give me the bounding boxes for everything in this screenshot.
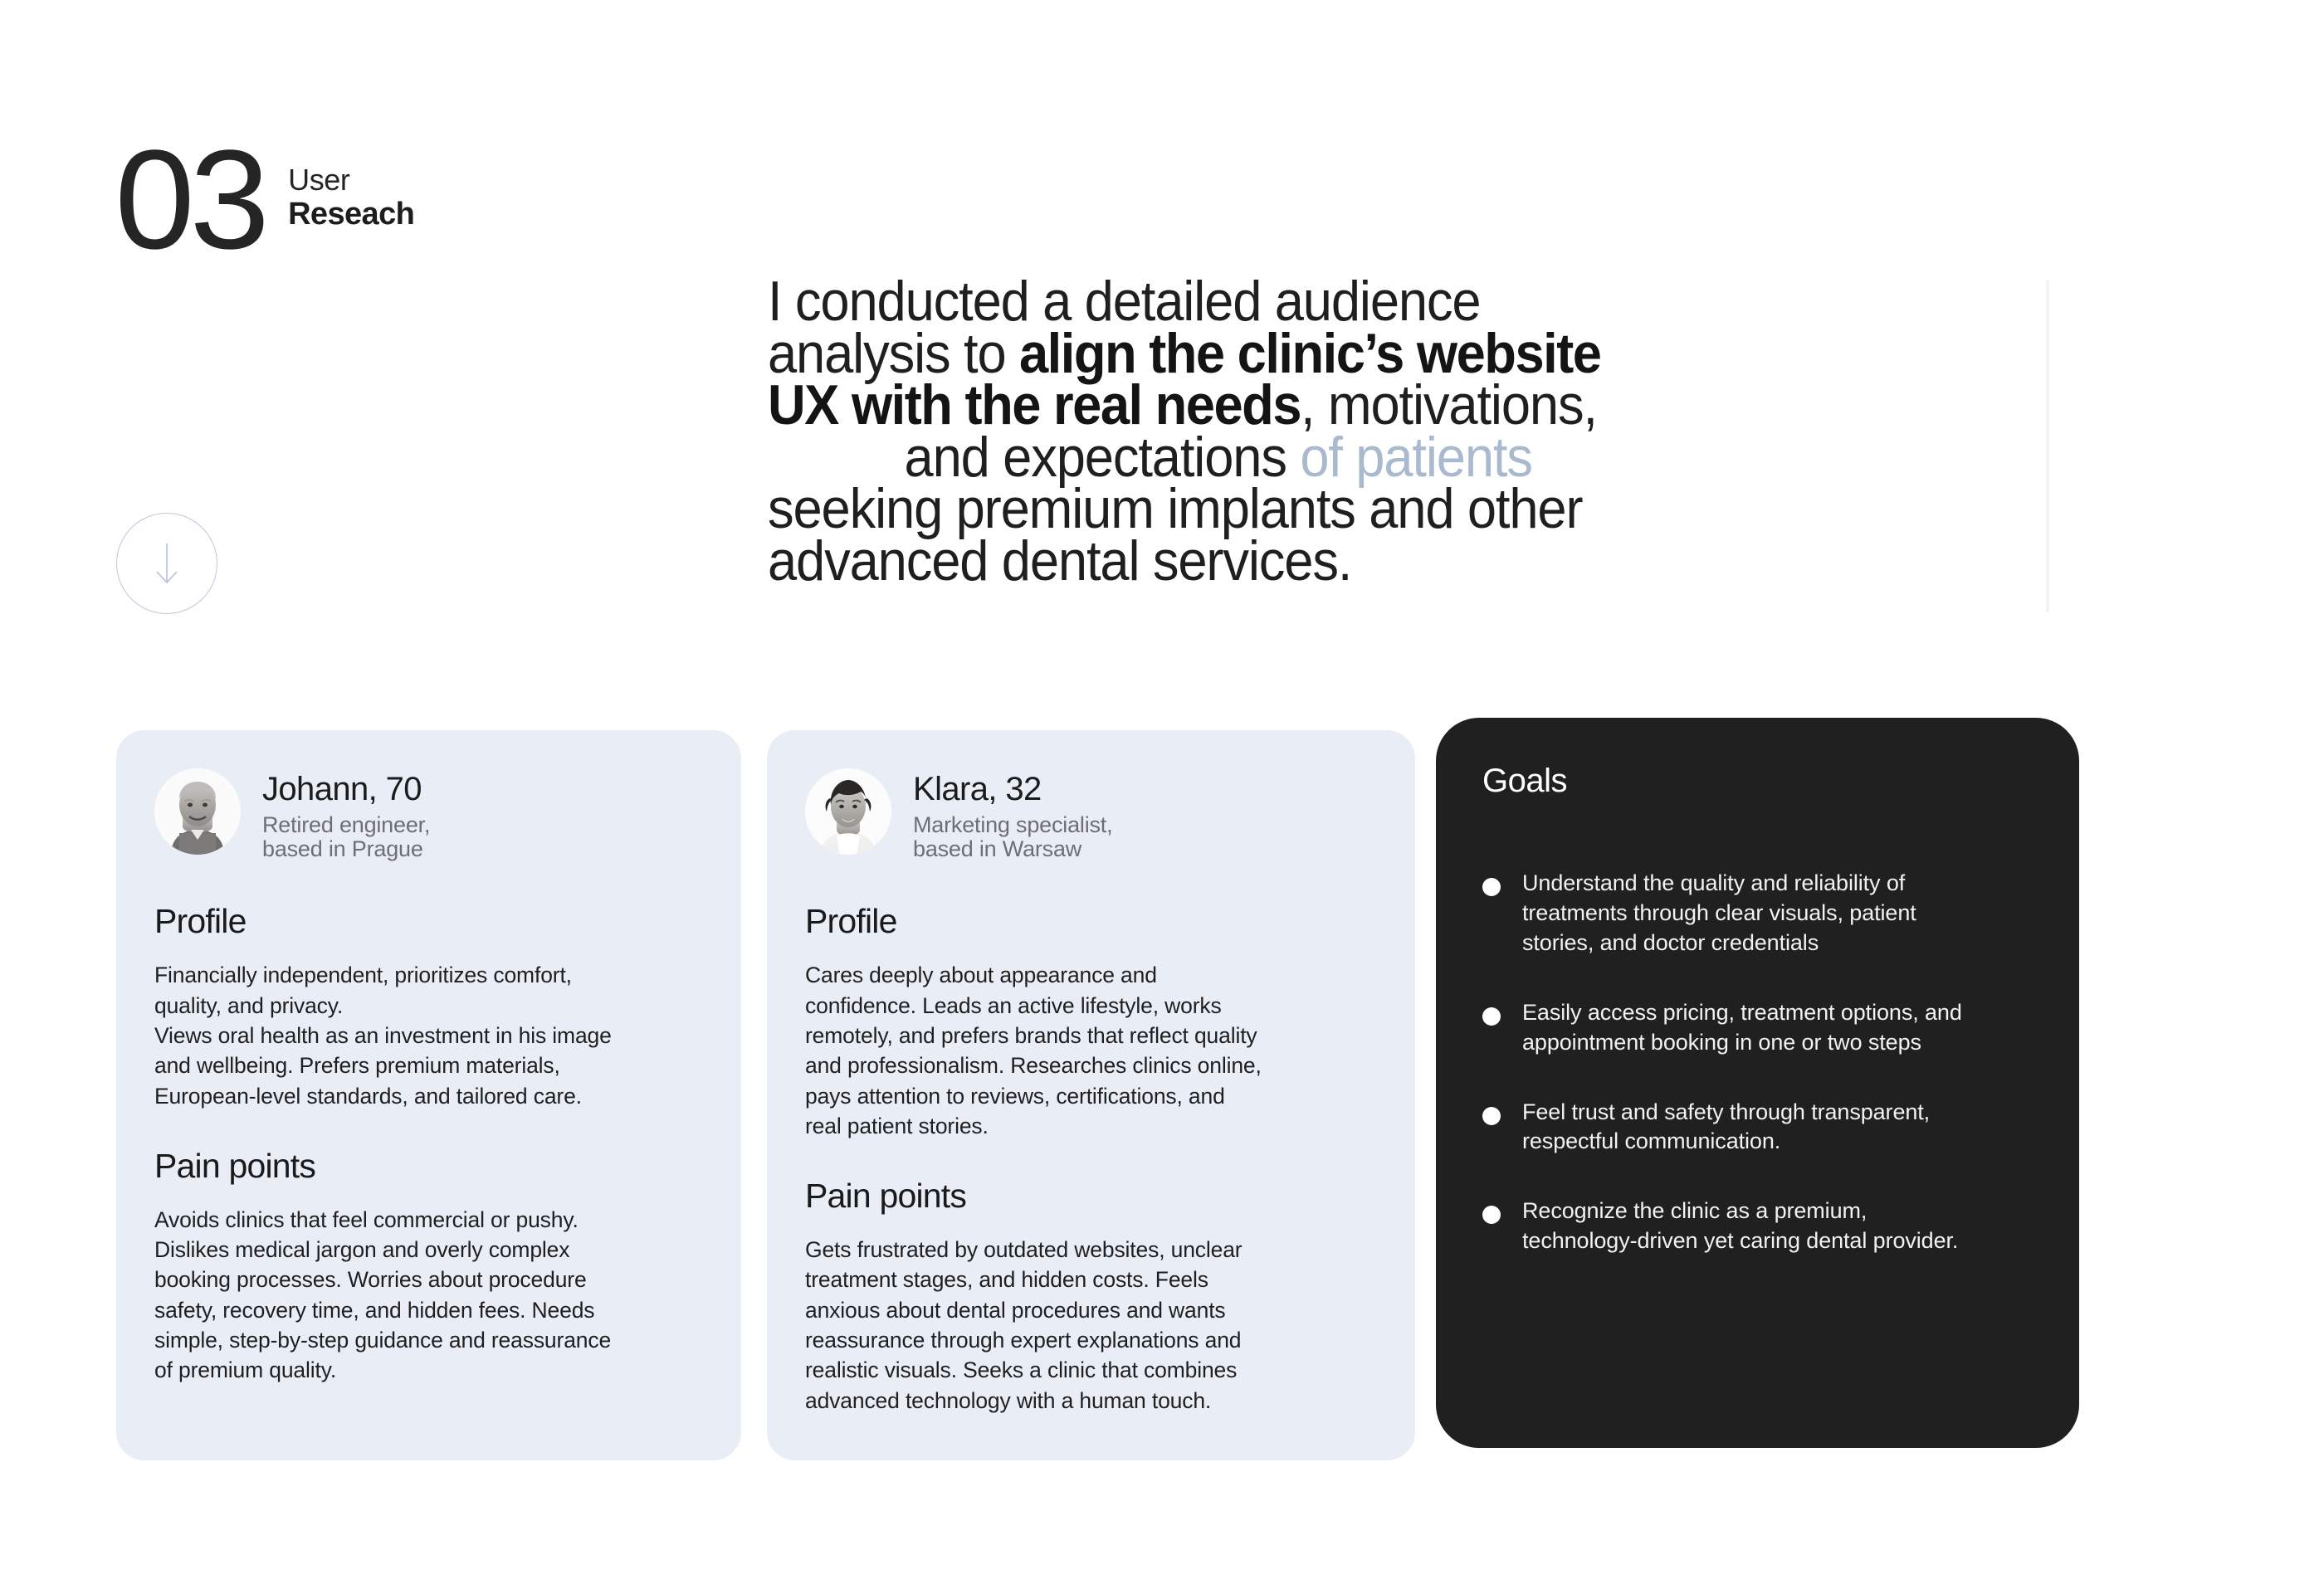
slide-root: 03 User Reseach I conducted a detailed a… [0, 0, 2324, 1589]
list-item: Feel trust and safety through transparen… [1482, 1098, 2031, 1158]
pain-points-text: Gets frustrated by outdated websites, un… [805, 1235, 1377, 1416]
persona-role: Retired engineer, based in Prague [262, 813, 430, 861]
kicker-line-2: Reseach [288, 197, 414, 232]
kicker-line-1: User [288, 163, 414, 197]
persona-role: Marketing specialist, based in Warsaw [913, 813, 1112, 861]
profile-heading: Profile [154, 904, 703, 938]
persona-meta: Klara, 32 Marketing specialist, based in… [913, 768, 1112, 861]
goals-title: Goals [1482, 764, 2031, 797]
goals-list: Understand the quality and reliability o… [1482, 869, 2031, 1256]
goal-text: Recognize the clinic as a premium, techn… [1522, 1197, 1958, 1256]
avatar [805, 768, 891, 855]
bullet-icon [1482, 878, 1501, 896]
persona-header: Klara, 32 Marketing specialist, based in… [805, 768, 1377, 861]
persona-card-klara: Klara, 32 Marketing specialist, based in… [767, 730, 1415, 1460]
young-woman-portrait-icon [805, 768, 891, 855]
bullet-icon [1482, 1007, 1501, 1026]
persona-meta: Johann, 70 Retired engineer, based in Pr… [262, 768, 430, 861]
list-item: Understand the quality and reliability o… [1482, 869, 2031, 958]
goals-card: Goals Understand the quality and reliabi… [1436, 718, 2079, 1448]
persona-name: Klara, 32 [913, 772, 1112, 807]
goal-text: Feel trust and safety through transparen… [1522, 1098, 1930, 1158]
section-marker: 03 User Reseach [116, 145, 414, 253]
arrow-down-icon [153, 542, 181, 585]
bullet-icon [1482, 1107, 1501, 1125]
section-number: 03 [115, 145, 265, 253]
list-item: Recognize the clinic as a premium, techn… [1482, 1197, 2031, 1256]
pain-points-text: Avoids clinics that feel commercial or p… [154, 1205, 703, 1386]
pain-points-heading: Pain points [805, 1179, 1377, 1213]
section-kicker: User Reseach [288, 145, 414, 232]
older-man-portrait-icon [154, 768, 241, 855]
bullet-icon [1482, 1206, 1501, 1224]
profile-heading: Profile [805, 904, 1377, 938]
profile-text: Financially independent, prioritizes com… [154, 960, 703, 1110]
goal-text: Easily access pricing, treatment options… [1522, 998, 1962, 1058]
goal-text: Understand the quality and reliability o… [1522, 869, 1916, 958]
avatar [154, 768, 241, 855]
persona-header: Johann, 70 Retired engineer, based in Pr… [154, 768, 703, 861]
persona-name: Johann, 70 [262, 772, 430, 807]
headline-part-3: seeking premium implants and other advan… [768, 477, 1582, 592]
list-item: Easily access pricing, treatment options… [1482, 998, 2031, 1058]
profile-text: Cares deeply about appearance and confid… [805, 960, 1377, 1141]
persona-card-johann: Johann, 70 Retired engineer, based in Pr… [116, 730, 741, 1460]
pain-points-heading: Pain points [154, 1149, 703, 1183]
vertical-divider [2046, 280, 2049, 612]
section-headline: I conducted a detailed audience analysis… [768, 275, 1764, 587]
scroll-down-button[interactable] [116, 513, 217, 614]
